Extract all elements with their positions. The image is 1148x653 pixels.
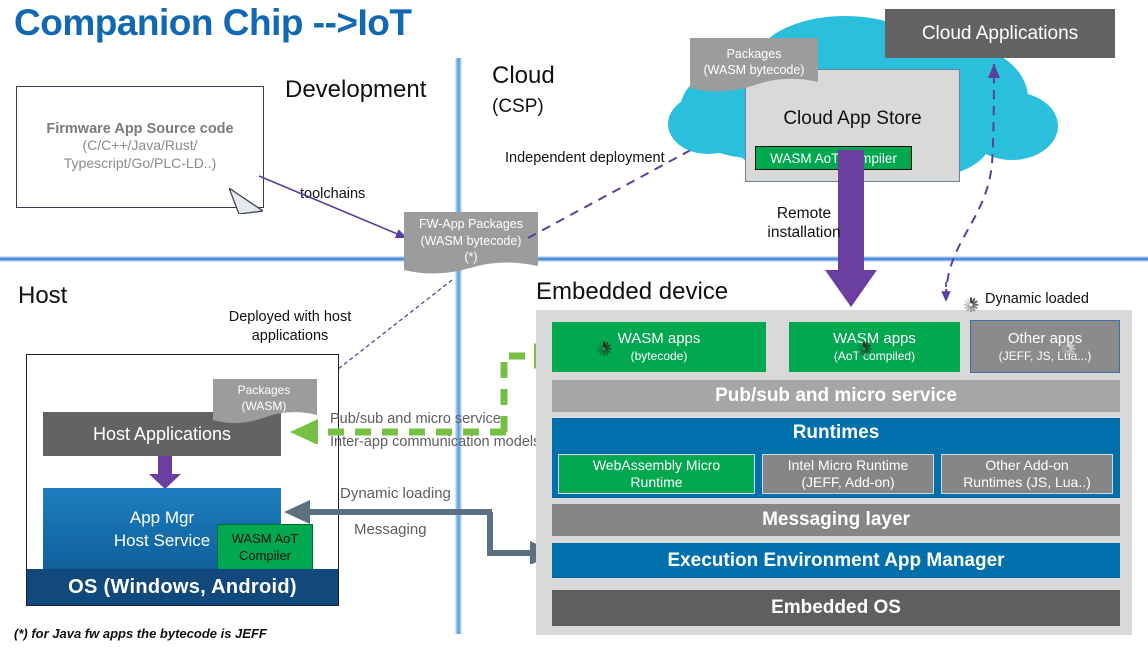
dynamic-loading-label: Dynamic loading [340,485,451,502]
source-box-line3: Typescript/Go/PLC-LD..) [64,155,217,173]
embedded-os: Embedded OS [552,590,1120,626]
embedded-app-0-label: WASM apps (bytecode) [552,325,766,369]
cloud-packages-line1: Packages [727,46,782,63]
embedded-runtime-0-line1: WebAssembly Micro [593,457,720,475]
cloud-packages-label: Packages (WASM bytecode) [688,38,820,86]
device-to-cloud-apps-arrow [930,52,1020,302]
app-mgr-line1: App Mgr [130,507,194,530]
embedded-app-1-name: WASM apps [833,330,916,349]
embedded-app-1-label: WASM apps (AoT compiled) [789,325,960,369]
dynamic-loaded-spinner-icon [960,289,982,311]
cloud-applications-box: Cloud Applications [885,9,1115,58]
zone-label-host: Host [18,282,67,310]
cloud-app-store-title: Cloud App Store [745,104,960,134]
interapp-label: Inter-app communication models [330,434,540,450]
messaging-label: Messaging [354,521,427,538]
embedded-app-2-label: Other apps (JEFF, JS, Lua...) [970,324,1120,370]
pubsub-label: Pub/sub and micro service [330,411,501,427]
embedded-runtime-1: Intel Micro Runtime (JEFF, Add-on) [762,454,934,494]
deployed-line1: Deployed with host [229,308,352,327]
remote-installation-line2: installation [767,223,840,242]
embedded-app-1-sub: (AoT compiled) [834,349,915,364]
footnote: (*) for Java fw apps the bytecode is JEF… [14,626,267,641]
zone-label-cloud: Cloud [492,62,555,90]
embedded-runtime-2-line2: Runtimes (JS, Lua..) [963,474,1091,492]
remote-installation-label: Remote installation [756,202,852,244]
embedded-pubsub-layer: Pub/sub and micro service [552,380,1120,412]
page-title: Companion Chip -->IoT [14,2,411,44]
embedded-runtime-1-line1: Intel Micro Runtime [788,457,909,475]
zone-label-development: Development [285,76,426,104]
embedded-app-0-sub: (bytecode) [631,349,688,364]
host-os-box: OS (Windows, Android) [27,569,338,605]
embedded-app-1-spinner-icon [854,334,874,354]
source-box-heading: Firmware App Source code [46,121,233,137]
host-packages-line2: (WASM) [242,399,287,415]
remote-installation-line1: Remote [777,204,831,223]
embedded-runtime-2: Other Add-on Runtimes (JS, Lua..) [941,454,1113,494]
source-box-line2: (C/C++/Java/Rust/ [82,137,197,155]
embedded-app-2-spinner-icon [1058,334,1078,354]
independent-deployment-label: Independent deployment [505,150,665,166]
embedded-app-0-spinner-icon [594,334,614,354]
embedded-app-0-name: WASM apps [618,330,701,349]
embedded-runtimes-title: Runtimes [552,420,1120,446]
dynamic-loaded-legend-label: Dynamic loaded [985,291,1089,307]
embedded-runtime-2-line1: Other Add-on [985,457,1068,475]
embedded-app-manager: Execution Environment App Manager [552,543,1120,578]
cloud-packages-line2: (WASM bytecode) [704,62,805,79]
host-flow-down-arrow [148,456,182,490]
embedded-runtime-0-line2: Runtime [630,474,682,492]
embedded-runtime-1-line2: (JEFF, Add-on) [801,474,894,492]
embedded-runtime-0: WebAssembly Micro Runtime [558,454,755,494]
fw-packages-line3: (*) [464,249,477,266]
dynamic-loaded-stub-arrow [941,282,953,310]
slide-canvas: Companion Chip -->IoT Development Cloud … [0,0,1148,653]
zone-label-embedded: Embedded device [536,278,728,306]
pubsub-interapp-green-arrows [282,334,564,444]
app-mgr-line2: Host Service [114,530,210,553]
firmware-source-code-box: Firmware App Source code (C/C++/Java/Rus… [16,86,264,208]
embedded-messaging-layer: Messaging layer [552,504,1120,536]
